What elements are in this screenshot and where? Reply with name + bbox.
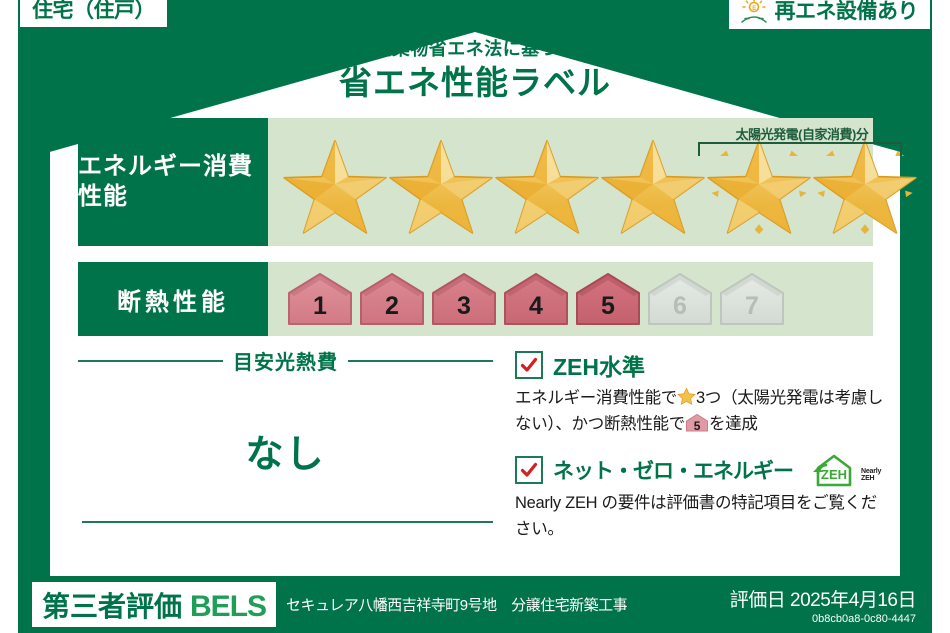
inline-star-icon	[677, 387, 696, 406]
insulation-level-active: 1	[286, 271, 354, 327]
bels-energy-label: 住宅（住戸） E 再エネ設備あり	[0, 0, 950, 633]
insulation-level-number: 3	[457, 292, 471, 327]
insulation-level-number: 6	[673, 292, 687, 327]
sun-solar-icon: E	[739, 0, 769, 24]
insulation-level-inactive: 6	[646, 271, 714, 327]
insulation-level-number: 5	[601, 292, 615, 327]
insulation-level-number: 7	[745, 292, 759, 327]
energy-cost-bottom-rule	[82, 521, 493, 523]
zeh-logo: ZEH Nearly ZEH	[809, 453, 881, 487]
zeh-standard-block: ZEH水準 エネルギー消費性能で3つ（太陽光発電は考慮しない）、かつ断熱性能で5…	[515, 348, 885, 437]
insulation-level-inactive: 7	[718, 271, 786, 327]
svg-text:E: E	[752, 6, 756, 12]
energy-cost-block: 目安光熱費 なし	[78, 346, 493, 531]
badge-renewable-energy: E 再エネ設備あり	[727, 0, 933, 31]
bels-badge-jp: 第三者評価	[42, 585, 182, 625]
net-zero-energy-checkbox[interactable]	[515, 456, 543, 484]
insulation-level-number: 1	[313, 292, 327, 327]
zeh-house-logo-icon: ZEH	[809, 453, 859, 487]
zeh-logo-sub-1: Nearly	[861, 468, 881, 475]
check-icon	[520, 356, 538, 374]
energy-performance-label: エネルギー消費性能	[78, 118, 268, 246]
insulation-level-active: 5	[574, 271, 642, 327]
insulation-performance-row: 断熱性能 1 2	[78, 262, 873, 336]
zeh-logo-sub: Nearly ZEH	[861, 468, 881, 487]
badge-building-type-label: 住宅（住戸）	[32, 0, 155, 22]
bels-badge: 第三者評価 BELS	[32, 582, 276, 627]
evaluation-date: 評価日 2025年4月16日	[730, 585, 916, 612]
insulation-level-scale: 1 2 3	[268, 262, 873, 336]
energy-star	[280, 130, 390, 234]
net-zero-energy-body: Nearly ZEH の要件は評価書の特記項目をご覧ください。	[515, 491, 885, 542]
footer-meta: 評価日 2025年4月16日 0b8cb0a8-0c80-4447	[730, 585, 916, 625]
insulation-level-active: 3	[430, 271, 498, 327]
certification-checks: ZEH水準 エネルギー消費性能で3つ（太陽光発電は考慮しない）、かつ断熱性能で5…	[515, 348, 885, 542]
net-zero-energy-block: ネット・ゼロ・エネルギー ZEH Nearly ZEH Nearly ZEH の…	[515, 453, 885, 542]
energy-star	[598, 130, 708, 234]
energy-performance-row: エネルギー消費性能	[78, 118, 873, 246]
inline-house-level-number: 5	[685, 420, 709, 432]
zeh-body-part-1: エネルギー消費性能で	[515, 389, 677, 407]
badge-building-type: 住宅（住戸）	[18, 0, 169, 29]
solar-note-label: 太陽光発電(自家消費)分	[702, 124, 902, 143]
title-main: 省エネ性能ラベル	[0, 62, 950, 103]
net-zero-energy-header: ネット・ゼロ・エネルギー ZEH Nearly ZEH	[515, 453, 885, 487]
energy-star	[492, 130, 602, 234]
zeh-standard-title: ZEH水準	[553, 348, 645, 382]
solar-bracket	[698, 142, 902, 156]
energy-performance-label-text: エネルギー消費性能	[78, 152, 268, 212]
zeh-logo-sub-2: ZEH	[861, 475, 874, 482]
zeh-standard-checkbox[interactable]	[515, 351, 543, 379]
energy-cost-heading-text: 目安光熱費	[233, 346, 338, 375]
insulation-level-active: 2	[358, 271, 426, 327]
footer-bar: 第三者評価 BELS セキュレア八幡西吉祥寺町9号地 分譲住宅新築工事 評価日 …	[18, 576, 932, 633]
inline-house-level-icon: 5	[685, 413, 709, 432]
energy-star-rating: 太陽光発電(自家消費)分	[268, 118, 916, 246]
insulation-performance-label: 断熱性能	[78, 262, 268, 336]
evaluation-id: 0b8cb0a8-0c80-4447	[730, 613, 916, 625]
insulation-performance-label-text: 断熱性能	[117, 282, 229, 317]
heading-rule-right	[348, 360, 493, 362]
energy-star	[386, 130, 496, 234]
check-icon	[520, 461, 538, 479]
zeh-standard-body: エネルギー消費性能で3つ（太陽光発電は考慮しない）、かつ断熱性能で5を達成	[515, 386, 885, 437]
insulation-level-active: 4	[502, 271, 570, 327]
title-subtitle: 建築物省エネ法に基づく	[0, 40, 950, 60]
insulation-level-number: 2	[385, 292, 399, 327]
energy-cost-heading: 目安光熱費	[78, 346, 493, 375]
bels-badge-en: BELS	[190, 590, 266, 624]
heading-rule-left	[78, 360, 223, 362]
zeh-body-part-2: 3つ（太陽光発電	[696, 389, 818, 407]
svg-text:ZEH: ZEH	[821, 467, 847, 482]
insulation-level-number: 4	[529, 292, 543, 327]
project-name: セキュレア八幡西吉祥寺町9号地 分譲住宅新築工事	[286, 594, 627, 615]
label-title: 建築物省エネ法に基づく 省エネ性能ラベル	[0, 40, 950, 103]
net-zero-energy-title: ネット・ゼロ・エネルギー	[553, 455, 793, 485]
energy-cost-value: なし	[78, 423, 493, 478]
badge-renewable-label: 再エネ設備あり	[775, 1, 919, 22]
zeh-standard-header: ZEH水準	[515, 348, 885, 382]
zeh-body-part-4: を達成	[709, 415, 758, 433]
